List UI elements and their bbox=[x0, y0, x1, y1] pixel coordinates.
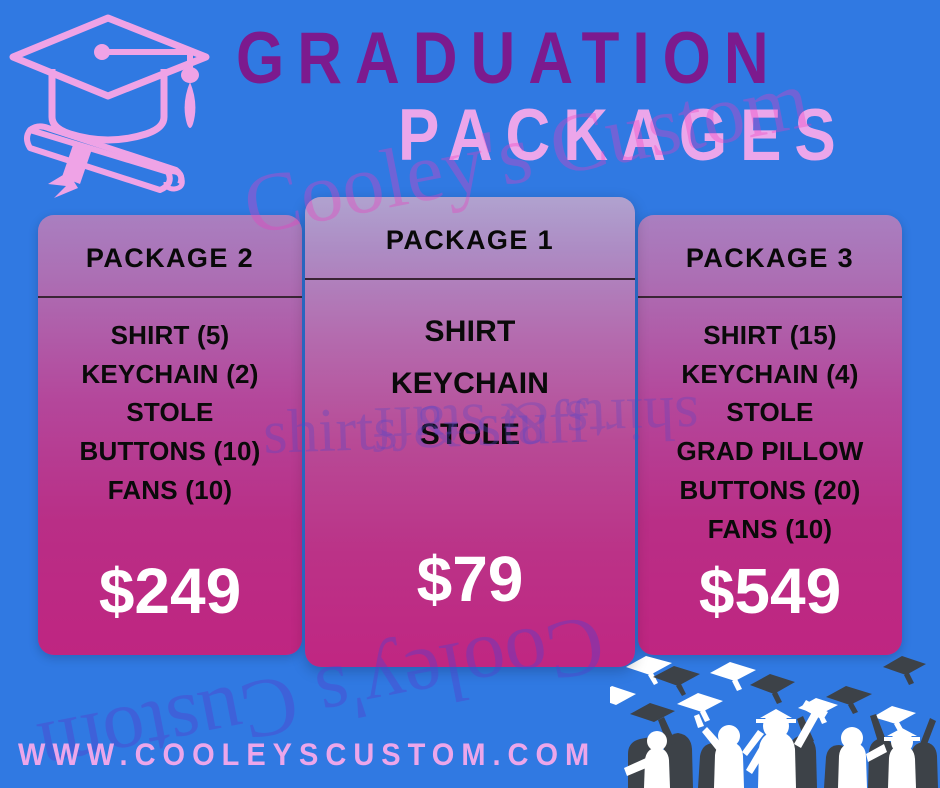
list-item: GRAD PILLOW bbox=[638, 432, 902, 471]
list-item: FANS (10) bbox=[638, 510, 902, 549]
list-item: STOLE bbox=[305, 409, 635, 461]
list-item: SHIRT (15) bbox=[638, 316, 902, 355]
graduation-cap-and-diploma-icon bbox=[8, 12, 213, 207]
list-item: FANS (10) bbox=[38, 471, 302, 510]
list-item: KEYCHAIN bbox=[305, 358, 635, 410]
package-2-price: $249 bbox=[38, 559, 302, 655]
list-item: SHIRT bbox=[305, 306, 635, 358]
list-item: BUTTONS (10) bbox=[38, 432, 302, 471]
graduation-packages-poster: GRADUATION PACKAGES Cooley's Custom shir… bbox=[0, 0, 940, 788]
graduates-throwing-caps-silhouette bbox=[610, 638, 940, 788]
list-item: KEYCHAIN (2) bbox=[38, 355, 302, 394]
package-card-2[interactable]: PACKAGE 2 SHIRT (5) KEYCHAIN (2) STOLE B… bbox=[38, 215, 302, 655]
package-2-item-list: SHIRT (5) KEYCHAIN (2) STOLE BUTTONS (10… bbox=[38, 298, 302, 559]
package-1-item-list: SHIRT KEYCHAIN STOLE bbox=[305, 280, 635, 547]
list-item: STOLE bbox=[38, 393, 302, 432]
tossed-caps-group bbox=[610, 656, 926, 733]
package-3-header: PACKAGE 3 bbox=[638, 215, 902, 296]
package-1-header: PACKAGE 1 bbox=[305, 197, 635, 278]
list-item: SHIRT (5) bbox=[38, 316, 302, 355]
footer-website-url[interactable]: WWW.COOLEYSCUSTOM.COM bbox=[18, 738, 596, 774]
package-3-item-list: SHIRT (15) KEYCHAIN (4) STOLE GRAD PILLO… bbox=[638, 298, 902, 559]
package-card-1[interactable]: PACKAGE 1 SHIRT KEYCHAIN STOLE $79 bbox=[305, 197, 635, 667]
package-2-header: PACKAGE 2 bbox=[38, 215, 302, 296]
graduate-figures-group bbox=[624, 700, 938, 788]
package-1-price: $79 bbox=[305, 547, 635, 667]
title-line-graduation: GRADUATION bbox=[236, 23, 782, 96]
list-item: BUTTONS (20) bbox=[638, 471, 902, 510]
package-card-3[interactable]: PACKAGE 3 SHIRT (15) KEYCHAIN (4) STOLE … bbox=[638, 215, 902, 655]
title-line-packages: PACKAGES bbox=[398, 100, 849, 173]
package-3-price: $549 bbox=[638, 559, 902, 655]
list-item: KEYCHAIN (4) bbox=[638, 355, 902, 394]
list-item: STOLE bbox=[638, 393, 902, 432]
